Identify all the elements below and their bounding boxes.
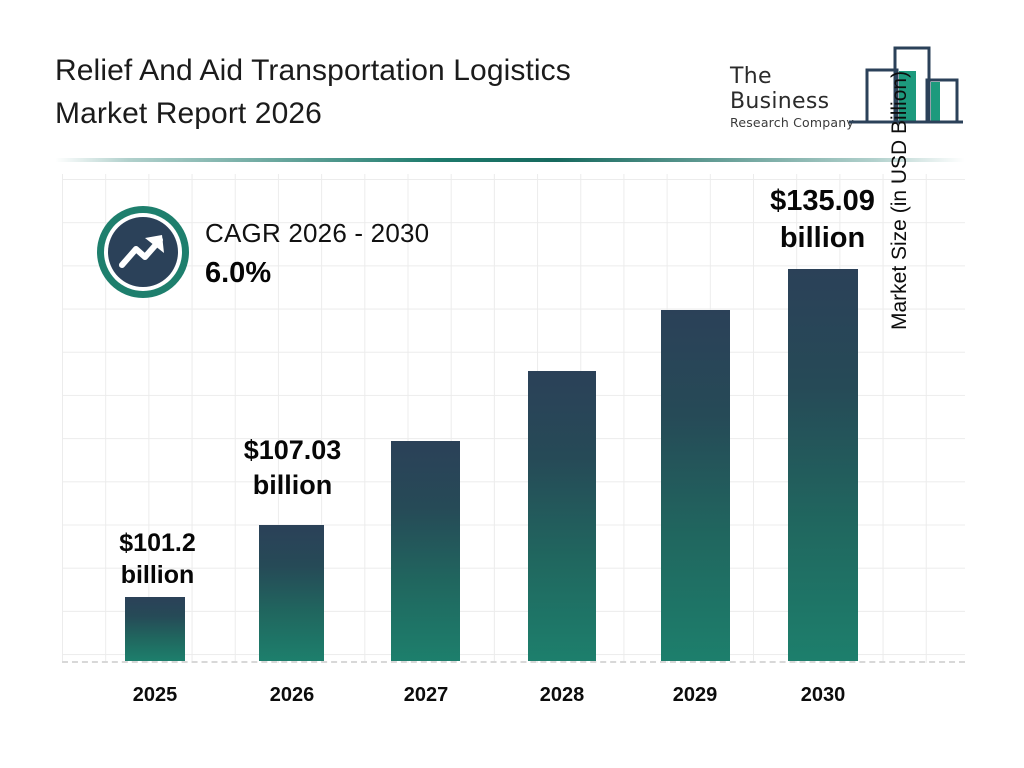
cagr-text-block: CAGR 2026 - 2030 6.0% <box>205 218 429 290</box>
x-label-2025: 2025 <box>105 684 205 707</box>
value-label-2030: $135.09 billion <box>740 183 905 257</box>
x-label-2029: 2029 <box>645 684 745 707</box>
x-label-2028: 2028 <box>512 684 612 707</box>
chart-page: Relief And Aid Transportation Logistics … <box>0 0 1024 768</box>
trending-up-arrow-icon <box>118 229 168 280</box>
bar-2025[interactable] <box>125 597 185 661</box>
chart-baseline <box>62 661 965 663</box>
x-label-2027: 2027 <box>376 684 476 707</box>
x-label-2030: 2030 <box>773 684 873 707</box>
bar-2030[interactable] <box>788 269 858 661</box>
x-label-2026: 2026 <box>242 684 342 707</box>
header-divider <box>55 158 965 162</box>
value-label-2026: $107.03 billion <box>215 433 370 502</box>
cagr-label: CAGR 2026 - 2030 <box>205 218 429 249</box>
bar-2028[interactable] <box>528 371 596 661</box>
page-title: Relief And Aid Transportation Logistics … <box>55 50 715 135</box>
bar-2027[interactable] <box>391 441 460 661</box>
bar-2029[interactable] <box>661 310 730 661</box>
y-axis-label: Market Size (in USD Billion) <box>888 0 912 330</box>
cagr-badge <box>97 206 189 298</box>
cagr-value: 6.0% <box>205 257 429 290</box>
bar-2026[interactable] <box>259 525 324 661</box>
value-label-2025: $101.2 billion <box>85 527 230 591</box>
company-logo: The Business Research Company <box>730 36 970 136</box>
